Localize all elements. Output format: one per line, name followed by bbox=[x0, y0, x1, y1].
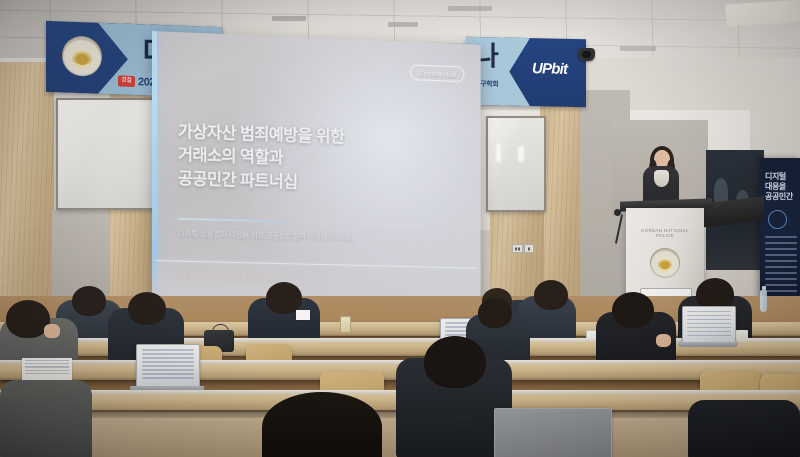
whiteboard-gloss bbox=[58, 100, 156, 208]
wall-wood-column-right bbox=[540, 88, 582, 306]
wall-outlet[interactable] bbox=[524, 244, 534, 253]
microphone-icon bbox=[614, 209, 621, 216]
attendee-9-body bbox=[0, 380, 92, 457]
roll-banner-line-1: 디지털 bbox=[765, 172, 793, 182]
podium-sign-text: KOREAN NATIONAL POLICE bbox=[636, 228, 694, 238]
attendee-2b-head bbox=[128, 292, 166, 325]
attendee-front-right-body bbox=[688, 400, 800, 457]
attendee-front-laptop-back[interactable] bbox=[494, 408, 612, 457]
mobile-phone[interactable] bbox=[340, 316, 351, 333]
paper-cup[interactable] bbox=[736, 330, 748, 342]
laptop-screen-content bbox=[687, 311, 731, 339]
attendee-4b-head bbox=[534, 280, 568, 310]
podium-police-emblem-icon bbox=[650, 248, 680, 278]
wall-outlet[interactable] bbox=[512, 244, 523, 253]
whiteboard-right bbox=[486, 116, 546, 212]
whiteboard-left bbox=[56, 98, 158, 210]
whiteboard-reflection bbox=[496, 144, 501, 162]
attendee-2-collar bbox=[296, 310, 310, 320]
security-camera-icon bbox=[578, 48, 595, 61]
attendee-8-hand bbox=[656, 334, 671, 347]
roll-banner-seal-icon bbox=[768, 210, 787, 229]
roll-banner-line-3: 공공민간 bbox=[765, 192, 793, 202]
attendee-10-hair bbox=[262, 392, 382, 457]
attendee-1-hand bbox=[44, 324, 60, 338]
banner-right: 나 연구학회 UPbit bbox=[466, 37, 586, 108]
attendee-6-laptop[interactable] bbox=[682, 306, 736, 344]
roll-banner-line-2: 대응을 bbox=[765, 182, 793, 192]
whiteboard-reflection bbox=[518, 146, 524, 162]
roll-banner-text: 디지털 대응을 공공민간 bbox=[765, 172, 793, 202]
attendee-7-head bbox=[478, 298, 512, 328]
confidential-badge: Confidential bbox=[410, 64, 465, 82]
water-bottle[interactable] bbox=[760, 290, 767, 312]
lecture-hall-photo: 디지 경찰 2026. 4 나 연구학회 UPbit Confidential … bbox=[0, 0, 800, 457]
projection-screen: Confidential 가상자산 범죄예방을 위한 거래소의 역할과 공공민간… bbox=[152, 31, 481, 306]
attendee-8-head bbox=[612, 292, 654, 328]
banner-left-tag-label: 경찰 bbox=[118, 75, 135, 87]
attendee-5-laptop[interactable] bbox=[136, 344, 200, 388]
attendee-6-glasses bbox=[694, 296, 708, 300]
whiteboard-gloss bbox=[488, 118, 544, 210]
attendee-front-center-head bbox=[424, 336, 486, 388]
attendee-6-laptop-base bbox=[678, 342, 738, 347]
banner-left-tag: 경찰 bbox=[118, 75, 135, 87]
attendee-3-head bbox=[72, 286, 106, 316]
speaker-scarf bbox=[654, 170, 669, 187]
laptop-screen-content bbox=[142, 349, 194, 381]
upbit-logo: UPbit bbox=[532, 60, 567, 78]
slide-title: 가상자산 범죄예방을 위한 거래소의 역할과 공공민간 파트너십 bbox=[178, 121, 431, 199]
police-emblem-icon bbox=[62, 35, 102, 76]
wall-wood-panel-left bbox=[0, 62, 54, 310]
slide-footer: 발표자: 두나무 법무실 정윤정 팀장 bbox=[178, 272, 278, 285]
